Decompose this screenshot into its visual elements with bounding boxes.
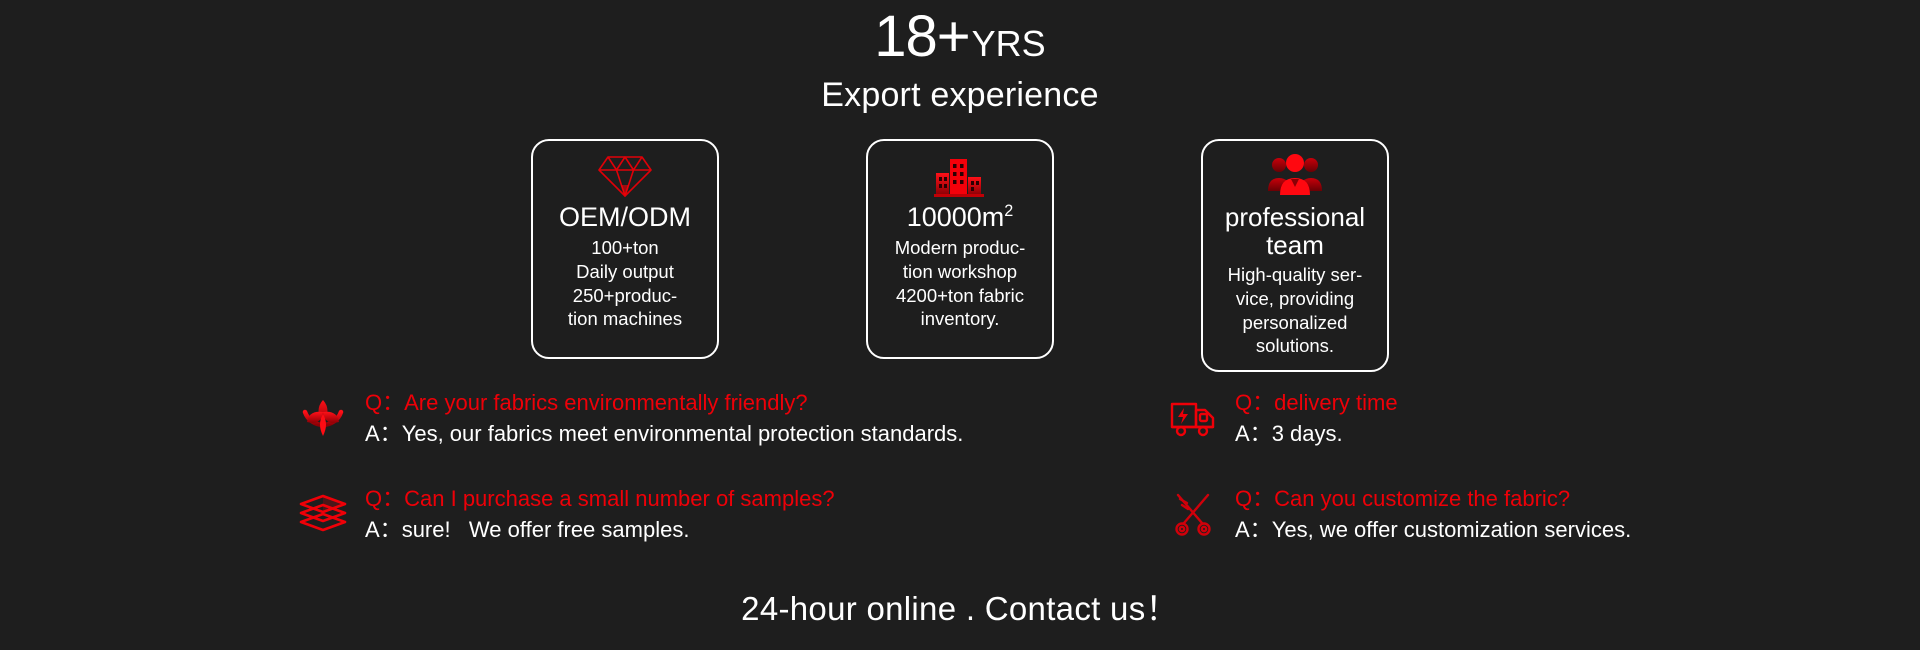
feature-card-description: 100+ton Daily output 250+produc- tion ma… xyxy=(568,236,682,331)
contact-tagline[interactable]: 24-hour online . Contact us！ xyxy=(741,590,1179,627)
faq-question-text: Can I purchase a small number of samples… xyxy=(404,486,834,511)
a-label: A： xyxy=(1235,421,1272,447)
years-headline: 18+ YRS xyxy=(874,8,1045,66)
faq-answer-text: sure! We offer free samples. xyxy=(402,517,690,542)
feature-card-oem-odm[interactable]: OEM/ODM 100+ton Daily output 250+produc-… xyxy=(531,139,719,359)
factory-buildings-icon xyxy=(932,151,988,201)
team-people-icon xyxy=(1267,151,1323,201)
faq-question: Q：delivery time xyxy=(1235,390,1398,416)
faq-question: Q：Can you customize the fabric? xyxy=(1235,486,1631,512)
faq-item[interactable]: Q：delivery time A：3 days. xyxy=(1165,388,1920,484)
faq-section: Q：Are your fabrics environmentally frien… xyxy=(0,388,1920,580)
years-number: 18+ xyxy=(874,8,969,66)
feature-card-title: 10000m2 xyxy=(907,203,1014,232)
feature-card-title: OEM/ODM xyxy=(559,203,691,232)
faq-question: Q：Can I purchase a small number of sampl… xyxy=(365,486,835,512)
promo-banner: 18+ YRS Export experience OEM/ODM 1 xyxy=(0,0,1920,650)
area-value: 10000m xyxy=(907,202,1005,232)
q-label: Q： xyxy=(1235,390,1274,416)
fabric-layers-icon xyxy=(295,486,351,542)
feature-card-description: High-quality ser- vice, providing person… xyxy=(1228,263,1363,358)
area-superscript: 2 xyxy=(1004,202,1013,220)
feature-card-team[interactable]: professional team High-quality ser- vice… xyxy=(1201,139,1389,372)
q-label: Q： xyxy=(365,486,404,512)
eco-leaf-icon xyxy=(295,390,351,446)
faq-answer: A：Yes, we offer customization services. xyxy=(1235,517,1631,543)
faq-answer: A：3 days. xyxy=(1235,421,1398,447)
a-label: A： xyxy=(1235,517,1272,543)
hero-subtitle: Export experience xyxy=(0,76,1920,115)
feature-cards: OEM/ODM 100+ton Daily output 250+produc-… xyxy=(0,139,1920,372)
diamond-icon xyxy=(597,151,653,201)
delivery-truck-icon xyxy=(1165,390,1221,446)
faq-item[interactable]: Q：Can I purchase a small number of sampl… xyxy=(295,484,1165,580)
faq-text: Q：delivery time A：3 days. xyxy=(1235,388,1398,447)
q-label: Q： xyxy=(365,390,404,416)
q-label: Q： xyxy=(1235,486,1274,512)
feature-card-workshop[interactable]: 10000m2 Modern produc- tion workshop 420… xyxy=(866,139,1054,359)
faq-question: Q：Are your fabrics environmentally frien… xyxy=(365,390,963,416)
faq-answer: A：Yes, our fabrics meet environmental pr… xyxy=(365,421,963,447)
a-label: A： xyxy=(365,517,402,543)
faq-text: Q：Can I purchase a small number of sampl… xyxy=(365,484,835,543)
faq-text: Q：Can you customize the fabric? A：Yes, w… xyxy=(1235,484,1631,543)
feature-card-title: professional team xyxy=(1225,203,1365,259)
faq-question-text: Are your fabrics environmentally friendl… xyxy=(404,390,808,415)
years-unit: YRS xyxy=(972,26,1046,62)
faq-answer-text: Yes, we offer customization services. xyxy=(1272,517,1632,542)
faq-text: Q：Are your fabrics environmentally frien… xyxy=(365,388,963,447)
scissors-icon xyxy=(1165,486,1221,542)
faq-answer-text: Yes, our fabrics meet environmental prot… xyxy=(402,421,964,446)
faq-question-text: Can you customize the fabric? xyxy=(1274,486,1570,511)
faq-question-text: delivery time xyxy=(1274,390,1397,415)
feature-card-description: Modern produc- tion workshop 4200+ton fa… xyxy=(895,236,1026,331)
faq-answer: A：sure! We offer free samples. xyxy=(365,517,835,543)
faq-answer-text: 3 days. xyxy=(1272,421,1343,446)
a-label: A： xyxy=(365,421,402,447)
hero-section: 18+ YRS Export experience xyxy=(0,8,1920,115)
faq-item[interactable]: Q：Can you customize the fabric? A：Yes, w… xyxy=(1165,484,1920,580)
footer-section: 24-hour online . Contact us！ xyxy=(0,582,1920,630)
faq-item[interactable]: Q：Are your fabrics environmentally frien… xyxy=(295,388,1165,484)
